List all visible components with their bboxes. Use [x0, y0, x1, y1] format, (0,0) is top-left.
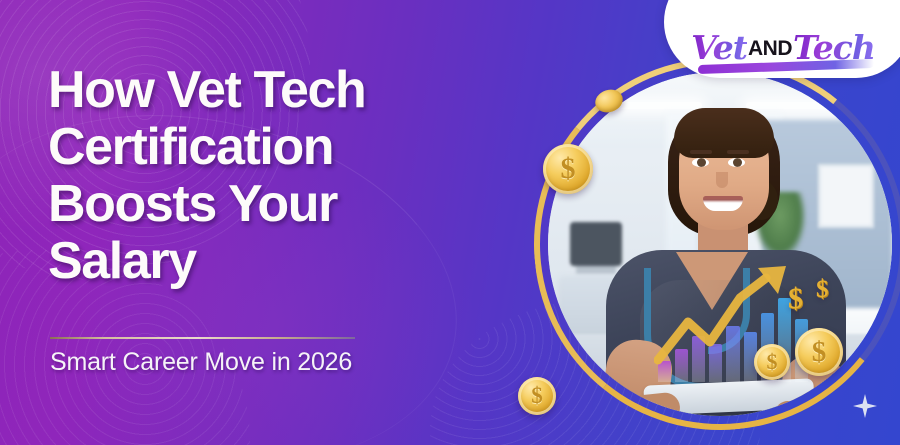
coin-dollar-glyph: $ — [531, 383, 543, 409]
logo-word-vet: Vet — [691, 28, 747, 67]
dollar-symbol-left: $ — [788, 282, 803, 316]
coin-large-right: $ — [795, 328, 843, 376]
headline-line-3: Boosts Your — [48, 176, 518, 233]
subtitle-text: Smart Career Move in 2026 — [50, 346, 352, 378]
dollar-symbol-right: $ — [816, 276, 829, 304]
coin-dollar-glyph: $ — [767, 349, 778, 375]
headline-block: How Vet Tech Certification Boosts Your S… — [48, 62, 518, 290]
headline-line-2: Certification — [48, 119, 518, 176]
gold-divider-rule — [50, 337, 355, 339]
coin-dollar-glyph: $ — [812, 336, 827, 369]
headline-line-4: Salary — [48, 233, 518, 290]
promo-banner: How Vet Tech Certification Boosts Your S… — [0, 0, 900, 445]
hero-photo — [534, 58, 900, 430]
coin-large-left: $ — [543, 144, 593, 194]
logo-word-and: AND — [748, 37, 792, 61]
coin-dollar-glyph: $ — [561, 152, 576, 186]
coin-bottom-left: $ — [518, 377, 556, 415]
headline-line-1: How Vet Tech — [48, 62, 518, 119]
coin-chart-front: $ — [754, 344, 790, 380]
